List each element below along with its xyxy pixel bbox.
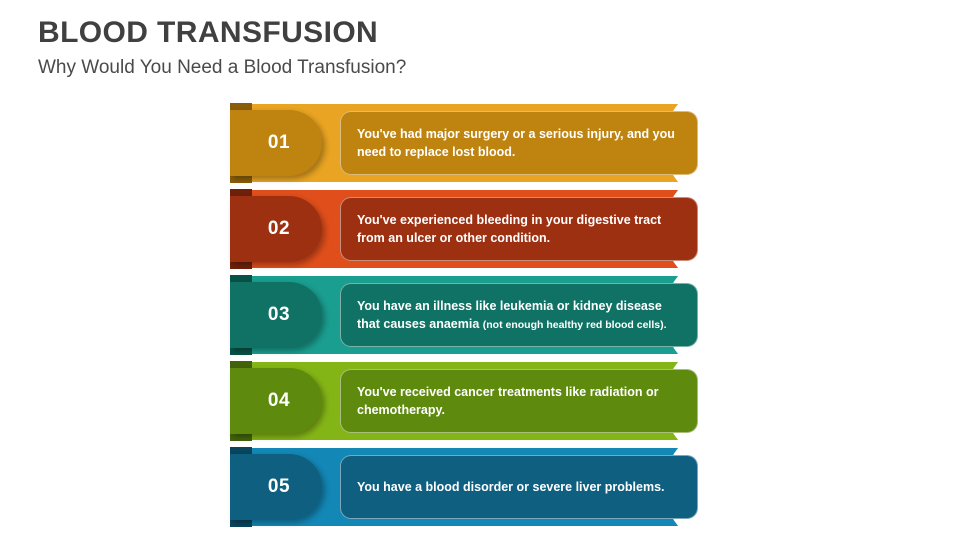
- step-text: You've had major surgery or a serious in…: [357, 125, 681, 161]
- step-band: 01You've had major surgery or a serious …: [236, 104, 740, 182]
- step-text-main: You've had major surgery or a serious in…: [357, 127, 675, 159]
- header: BLOOD TRANSFUSION Why Would You Need a B…: [38, 16, 918, 79]
- step-number-label: 04: [262, 390, 290, 412]
- page-title: BLOOD TRANSFUSION: [38, 16, 918, 51]
- step-number-label: 05: [262, 476, 290, 498]
- ribbon-fold-top-icon: [230, 275, 252, 282]
- step-text-panel[interactable]: You've experienced bleeding in your dige…: [340, 197, 698, 261]
- step-text-panel[interactable]: You've received cancer treatments like r…: [340, 369, 698, 433]
- ribbon-fold-bottom-icon: [230, 348, 252, 355]
- step-number-tab[interactable]: 01: [230, 110, 322, 176]
- step-number-label: 03: [262, 304, 290, 326]
- ribbon-fold-top-icon: [230, 447, 252, 454]
- step-number-tab[interactable]: 05: [230, 454, 322, 520]
- step-text-panel[interactable]: You have an illness like leukemia or kid…: [340, 283, 698, 347]
- step-text-main: You've received cancer treatments like r…: [357, 385, 658, 417]
- step-band: 02You've experienced bleeding in your di…: [236, 190, 740, 268]
- steps-list: 01You've had major surgery or a serious …: [0, 104, 960, 534]
- step-text: You have an illness like leukemia or kid…: [357, 297, 681, 333]
- step-text-panel[interactable]: You've had major surgery or a serious in…: [340, 111, 698, 175]
- step-text-note: (not enough healthy red blood cells).: [483, 319, 667, 331]
- step-text: You've experienced bleeding in your dige…: [357, 211, 681, 247]
- step-band: 04You've received cancer treatments like…: [236, 362, 740, 440]
- ribbon-fold-bottom-icon: [230, 520, 252, 527]
- step-row: 02You've experienced bleeding in your di…: [0, 190, 960, 276]
- ribbon-fold-top-icon: [230, 189, 252, 196]
- ribbon-fold-bottom-icon: [230, 176, 252, 183]
- step-text-panel[interactable]: You have a blood disorder or severe live…: [340, 455, 698, 519]
- step-text-main: You've experienced bleeding in your dige…: [357, 213, 661, 245]
- step-number-tab[interactable]: 02: [230, 196, 322, 262]
- step-text: You have a blood disorder or severe live…: [357, 478, 665, 496]
- ribbon-fold-bottom-icon: [230, 434, 252, 441]
- page-subtitle: Why Would You Need a Blood Transfusion?: [38, 57, 918, 80]
- step-band: 03You have an illness like leukemia or k…: [236, 276, 740, 354]
- step-band: 05You have a blood disorder or severe li…: [236, 448, 740, 526]
- ribbon-fold-top-icon: [230, 103, 252, 110]
- step-number-tab[interactable]: 03: [230, 282, 322, 348]
- step-row: 04You've received cancer treatments like…: [0, 362, 960, 448]
- step-row: 05You have a blood disorder or severe li…: [0, 448, 960, 534]
- step-text-main: You have a blood disorder or severe live…: [357, 480, 665, 494]
- ribbon-fold-top-icon: [230, 361, 252, 368]
- step-row: 03You have an illness like leukemia or k…: [0, 276, 960, 362]
- step-number-label: 02: [262, 218, 290, 240]
- step-number-label: 01: [262, 132, 290, 154]
- ribbon-fold-bottom-icon: [230, 262, 252, 269]
- step-row: 01You've had major surgery or a serious …: [0, 104, 960, 190]
- step-number-tab[interactable]: 04: [230, 368, 322, 434]
- step-text: You've received cancer treatments like r…: [357, 383, 681, 419]
